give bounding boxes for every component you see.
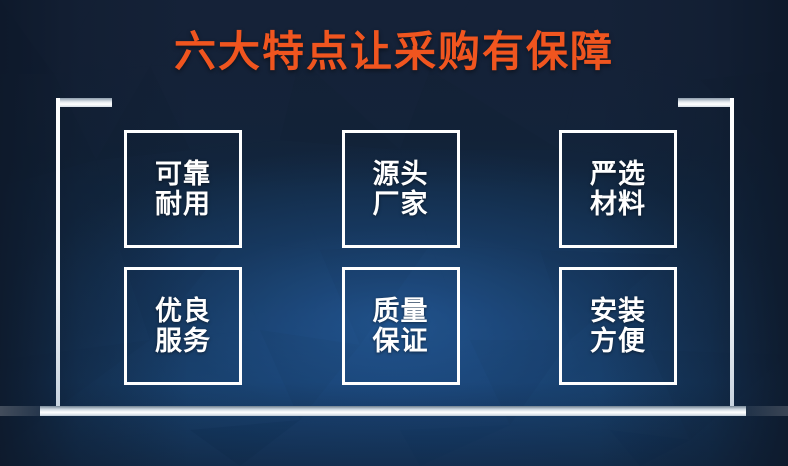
feature-label-line1: 安装 [590,296,646,326]
feature-grid: 可靠 耐用 源头 厂家 严选 材料 优良 服务 质量 保证 安装 方便 [124,130,677,385]
feature-card-quality-guarantee: 质量 保证 [342,267,460,385]
feature-card-selected-materials: 严选 材料 [559,130,677,248]
promo-banner: 六大特点让采购有保障 可靠 耐用 源头 厂家 严选 材料 优良 服务 质量 保证 [0,0,788,466]
feature-label-line1: 源头 [373,159,429,189]
feature-card-easy-installation: 安装 方便 [559,267,677,385]
feature-label-line2: 厂家 [373,189,429,219]
feature-label-line2: 保证 [373,326,429,356]
page-title: 六大特点让采购有保障 [0,28,788,76]
feature-card-source-manufacturer: 源头 厂家 [342,130,460,248]
feature-label-line1: 质量 [373,296,429,326]
feature-label-line1: 可靠 [155,159,211,189]
feature-label-line2: 耐用 [155,189,211,219]
feature-label-line1: 严选 [590,159,646,189]
feature-label-line1: 优良 [155,296,211,326]
feature-card-excellent-service: 优良 服务 [124,267,242,385]
feature-card-reliable-durable: 可靠 耐用 [124,130,242,248]
feature-label-line2: 方便 [590,326,646,356]
feature-label-line2: 服务 [155,326,211,356]
feature-label-line2: 材料 [590,189,646,219]
